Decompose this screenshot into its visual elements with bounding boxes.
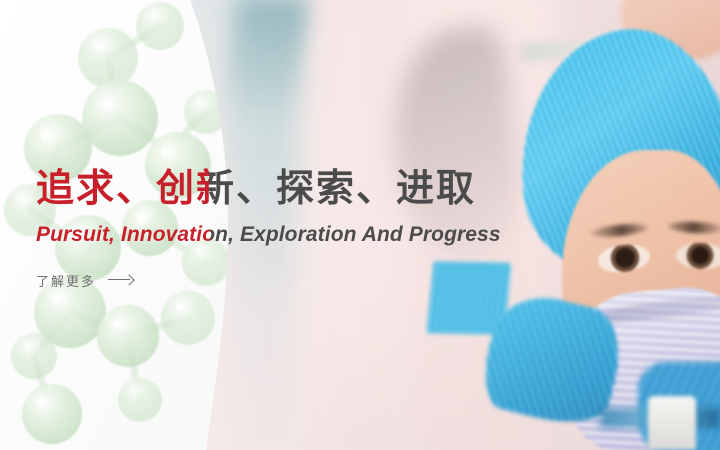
page-title: 追求、创新、探索、进取 (36, 168, 696, 211)
learn-more-label: 了解更多 (36, 271, 96, 290)
learn-more-button[interactable]: 了解更多 (36, 271, 134, 290)
hero-content: 追求、创新、探索、进取 Pursuit, Innovation, Explora… (36, 168, 696, 291)
page-subtitle: Pursuit, Innovation, Exploration And Pro… (36, 223, 696, 247)
arrow-right-icon (108, 275, 134, 285)
hero-banner: 追求、创新、探索、进取 Pursuit, Innovation, Explora… (0, 0, 720, 450)
lab-container (648, 396, 696, 450)
